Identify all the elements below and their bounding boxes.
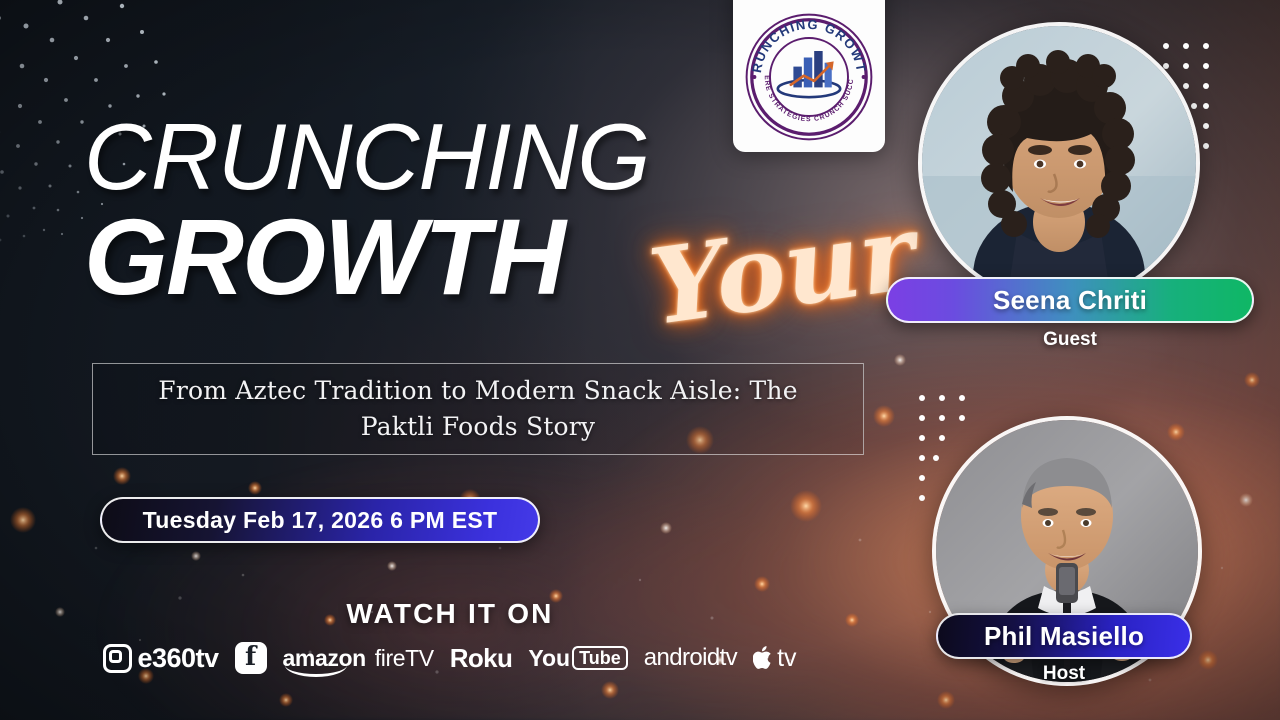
e360tv-label: e360tv bbox=[137, 643, 218, 674]
amazon-smile-icon bbox=[285, 665, 347, 677]
platform-facebook[interactable]: f bbox=[235, 642, 267, 674]
episode-title-box: From Aztec Tradition to Modern Snack Ais… bbox=[92, 363, 864, 455]
airdate-pill[interactable]: Tuesday Feb 17, 2026 6 PM EST bbox=[100, 497, 540, 543]
headline-line-2: GROWTH bbox=[84, 203, 564, 311]
episode-title-text: From Aztec Tradition to Modern Snack Ais… bbox=[119, 373, 837, 446]
youtube-icon: Tube bbox=[572, 646, 628, 670]
host-name: Phil Masiello bbox=[984, 621, 1144, 652]
headline-block: CRUNCHING GROWTH Your bbox=[84, 110, 884, 325]
guest-name-pill: Seena Chriti bbox=[886, 277, 1254, 323]
facebook-icon: f bbox=[235, 642, 267, 674]
platform-amazon-firetv[interactable]: amazon fireTV bbox=[283, 645, 434, 672]
host-role: Host bbox=[936, 663, 1192, 685]
host-name-pill: Phil Masiello bbox=[936, 613, 1192, 659]
roku-label: Roku bbox=[450, 643, 513, 674]
headline-script-your: Your bbox=[644, 200, 921, 340]
platform-logo-row: e360tv f amazon fireTV Roku You Tube and… bbox=[0, 636, 900, 680]
guest-photo-illustration bbox=[922, 26, 1196, 300]
headline-line-1: CRUNCHING bbox=[84, 110, 649, 204]
watch-it-on-label: WATCH IT ON bbox=[0, 598, 900, 630]
apple-icon bbox=[753, 645, 775, 671]
platform-e360tv[interactable]: e360tv bbox=[103, 643, 218, 674]
guest-avatar bbox=[918, 22, 1200, 304]
youtube-you-label: You bbox=[528, 645, 570, 672]
airdate-text: Tuesday Feb 17, 2026 6 PM EST bbox=[143, 507, 498, 534]
e360tv-icon bbox=[103, 644, 132, 673]
platform-androidtv[interactable]: androidtv bbox=[644, 644, 737, 672]
platform-apple-tv[interactable]: tv bbox=[753, 644, 796, 673]
androidtv-label: androidtv bbox=[644, 644, 737, 672]
promo-poster: CRUNCHING GROWTH WHERE STRATEGIES CRUNCH… bbox=[0, 0, 1280, 720]
platform-youtube[interactable]: You Tube bbox=[528, 645, 627, 672]
guest-name: Seena Chriti bbox=[993, 285, 1147, 316]
apple-tv-label: tv bbox=[777, 644, 796, 673]
platform-roku[interactable]: Roku bbox=[450, 643, 513, 674]
guest-role: Guest bbox=[886, 329, 1254, 351]
firetv-label: fireTV bbox=[375, 645, 434, 672]
